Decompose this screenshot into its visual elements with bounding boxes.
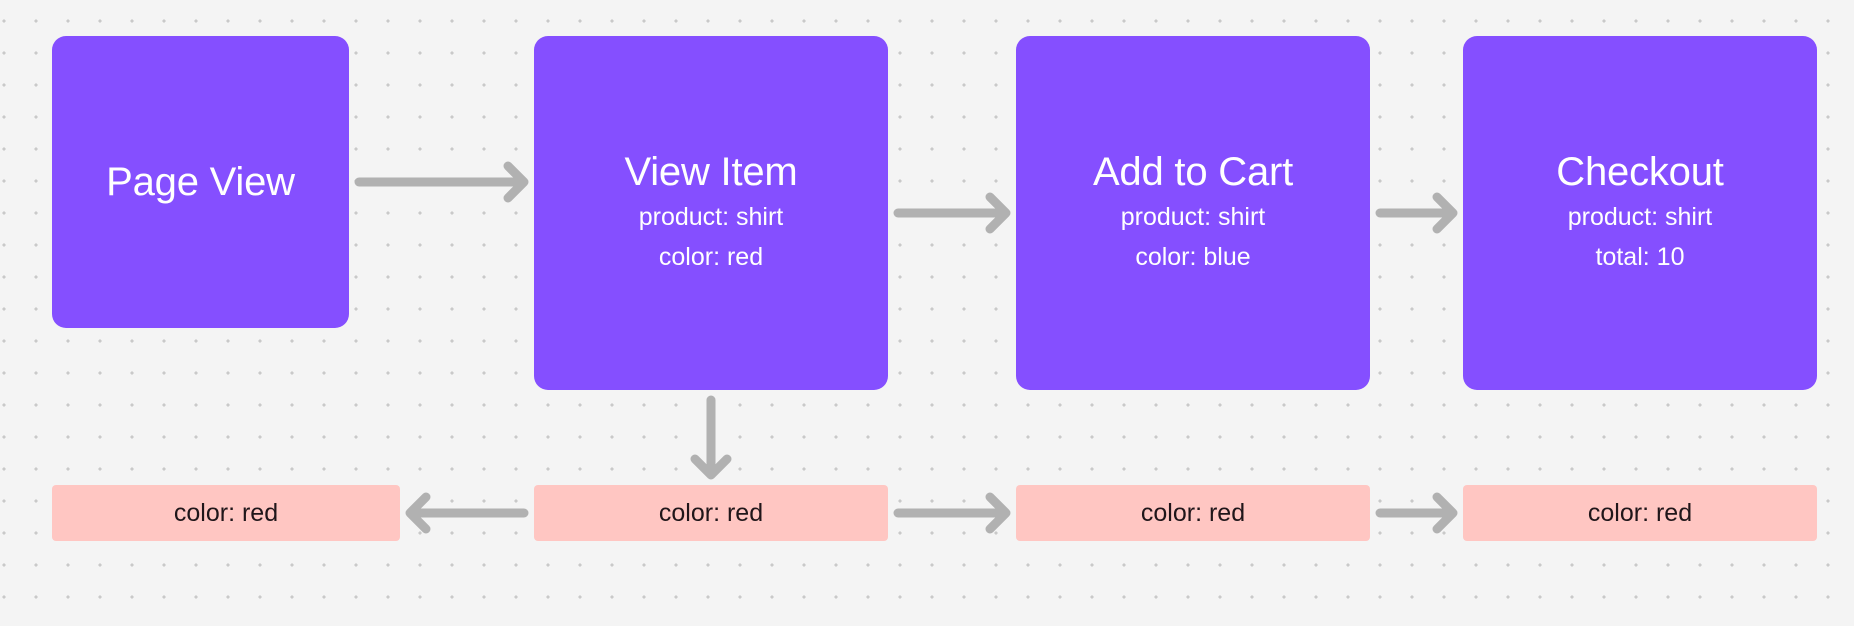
event-node-property: product: shirt: [639, 197, 784, 238]
arrow-prop-3-to-prop-4: [1360, 493, 1473, 533]
flow-canvas[interactable]: Page ViewView Itemproduct: shirtcolor: r…: [0, 0, 1854, 626]
event-node-property: total: 10: [1596, 237, 1685, 278]
event-node-page-view[interactable]: Page View: [52, 36, 349, 328]
property-node-prop-2[interactable]: color: red: [534, 485, 888, 541]
event-node-property: color: red: [659, 237, 763, 278]
event-node-title: View Item: [624, 148, 797, 197]
arrow-prop-2-to-prop-3: [878, 493, 1026, 533]
property-node-prop-1[interactable]: color: red: [52, 485, 400, 541]
event-node-title: Add to Cart: [1093, 148, 1293, 197]
property-node-label: color: red: [659, 501, 763, 526]
property-node-label: color: red: [1141, 501, 1245, 526]
property-node-label: color: red: [174, 501, 278, 526]
property-node-prop-3[interactable]: color: red: [1016, 485, 1370, 541]
event-node-property: product: shirt: [1121, 197, 1266, 238]
arrow-page-view-to-view-item: [339, 162, 544, 202]
arrow-view-item-to-add-to-cart: [878, 193, 1026, 233]
event-node-add-to-cart[interactable]: Add to Cartproduct: shirtcolor: blue: [1016, 36, 1370, 390]
arrow-add-to-cart-to-checkout: [1360, 193, 1473, 233]
event-node-checkout[interactable]: Checkoutproduct: shirttotal: 10: [1463, 36, 1817, 390]
arrow-prop-2-to-prop-1: [390, 493, 544, 533]
event-node-view-item[interactable]: View Itemproduct: shirtcolor: red: [534, 36, 888, 390]
event-node-title: Checkout: [1556, 148, 1723, 197]
arrow-view-item-to-prop-2: [691, 380, 731, 495]
event-node-property: color: blue: [1135, 237, 1250, 278]
event-node-property: product: shirt: [1568, 197, 1713, 238]
event-node-title: Page View: [106, 158, 295, 207]
property-node-prop-4[interactable]: color: red: [1463, 485, 1817, 541]
property-node-label: color: red: [1588, 501, 1692, 526]
